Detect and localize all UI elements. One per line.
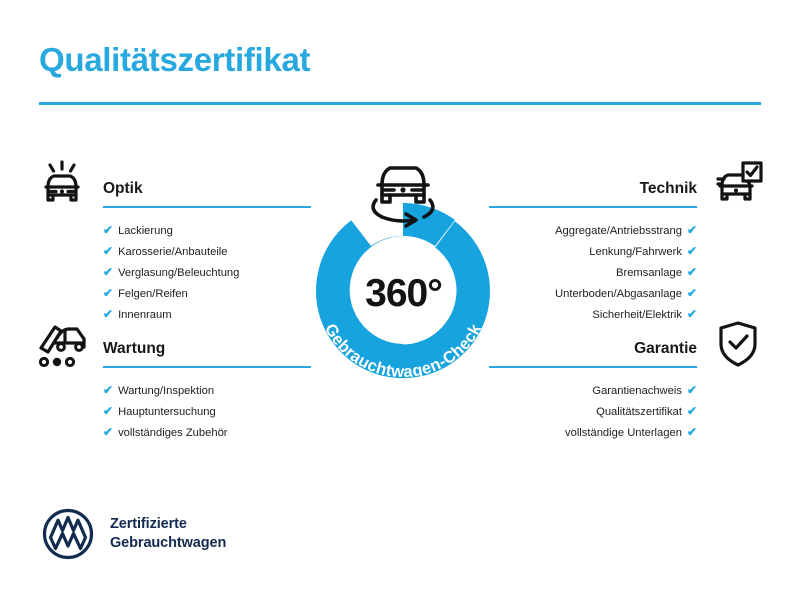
car-front-lights-icon	[33, 158, 91, 210]
check-icon: ✔	[687, 244, 697, 258]
list-item: Aggregate/Antriebsstrang✔	[555, 220, 697, 241]
list-item-label: Lackierung	[118, 225, 173, 237]
section-divider	[103, 366, 311, 368]
section-divider	[489, 366, 697, 368]
section-header: Wartung	[33, 318, 333, 374]
list-item: vollständige Unterlagen✔	[565, 422, 697, 443]
check-icon: ✔	[103, 244, 113, 258]
wrench-car-service-icon	[33, 318, 91, 370]
section-header: Optik	[33, 158, 333, 214]
section-optik: Optik ✔Lackierung ✔Karosserie/Anbauteile…	[33, 158, 333, 214]
list-item: ✔vollständiges Zubehör	[103, 422, 228, 443]
list-item: ✔Karosserie/Anbauteile	[103, 241, 239, 262]
list-item: Bremsanlage✔	[555, 262, 697, 283]
volkswagen-logo-text: Zertifizierte Gebrauchtwagen	[110, 515, 226, 553]
section-title: Technik	[640, 180, 697, 198]
section-item-list: Garantienachweis✔ Qualitätszertifikat✔ v…	[565, 380, 697, 443]
list-item: Lenkung/Fahrwerk✔	[555, 241, 697, 262]
list-item: ✔Verglasung/Beleuchtung	[103, 262, 239, 283]
volkswagen-logo-icon	[42, 508, 94, 560]
list-item: ✔Wartung/Inspektion	[103, 380, 228, 401]
check-icon: ✔	[687, 265, 697, 279]
shield-check-icon	[709, 318, 767, 370]
list-item-label: Verglasung/Beleuchtung	[118, 267, 239, 279]
car-checkbox-icon	[709, 158, 767, 210]
check-icon: ✔	[687, 404, 697, 418]
check-icon: ✔	[103, 383, 113, 397]
section-divider	[103, 206, 311, 208]
list-item-label: Qualitätszertifikat	[596, 406, 682, 418]
check-icon: ✔	[103, 404, 113, 418]
list-item-label: Wartung/Inspektion	[118, 385, 214, 397]
check-icon: ✔	[687, 223, 697, 237]
section-wartung: Wartung ✔Wartung/Inspektion ✔Hauptunters…	[33, 318, 333, 374]
360-check-badge: Gebrauchtwagen-Check 360°	[290, 150, 515, 380]
check-icon: ✔	[687, 383, 697, 397]
list-item: Garantienachweis✔	[565, 380, 697, 401]
list-item: ✔Felgen/Reifen	[103, 283, 239, 304]
check-icon: ✔	[687, 425, 697, 439]
section-item-list: ✔Lackierung ✔Karosserie/Anbauteile ✔Verg…	[103, 220, 239, 325]
list-item-label: Unterboden/Abgasanlage	[555, 288, 682, 300]
list-item-label: vollständige Unterlagen	[565, 427, 682, 439]
list-item: Unterboden/Abgasanlage✔	[555, 283, 697, 304]
list-item-label: Felgen/Reifen	[118, 288, 188, 300]
list-item-label: Bremsanlage	[616, 267, 682, 279]
list-item-label: Aggregate/Antriebsstrang	[555, 225, 682, 237]
section-item-list: Aggregate/Antriebsstrang✔ Lenkung/Fahrwe…	[555, 220, 697, 325]
list-item-label: Lenkung/Fahrwerk	[589, 246, 682, 258]
check-icon: ✔	[103, 286, 113, 300]
section-title: Garantie	[634, 340, 697, 358]
list-item-label: Karosserie/Anbauteile	[118, 246, 227, 258]
list-item: ✔Lackierung	[103, 220, 239, 241]
check-icon: ✔	[103, 265, 113, 279]
section-title: Optik	[103, 180, 143, 198]
list-item: Qualitätszertifikat✔	[565, 401, 697, 422]
list-item-label: vollständiges Zubehör	[118, 427, 227, 439]
page-title: Qualitätszertifikat	[39, 40, 310, 80]
check-icon: ✔	[687, 286, 697, 300]
title-divider	[39, 102, 761, 105]
volkswagen-footer-logo: Zertifizierte Gebrauchtwagen	[42, 508, 226, 560]
list-item: ✔Hauptuntersuchung	[103, 401, 228, 422]
list-item-label: Hauptuntersuchung	[118, 406, 216, 418]
check-icon: ✔	[103, 425, 113, 439]
section-divider	[489, 206, 697, 208]
logo-text-line1: Zertifizierte	[110, 515, 226, 534]
certificate-page: Qualitätszertifikat	[0, 0, 800, 600]
logo-text-line2: Gebrauchtwagen	[110, 534, 226, 553]
section-title: Wartung	[103, 340, 165, 358]
check-icon: ✔	[103, 223, 113, 237]
list-item-label: Garantienachweis	[592, 385, 682, 397]
section-item-list: ✔Wartung/Inspektion ✔Hauptuntersuchung ✔…	[103, 380, 228, 443]
